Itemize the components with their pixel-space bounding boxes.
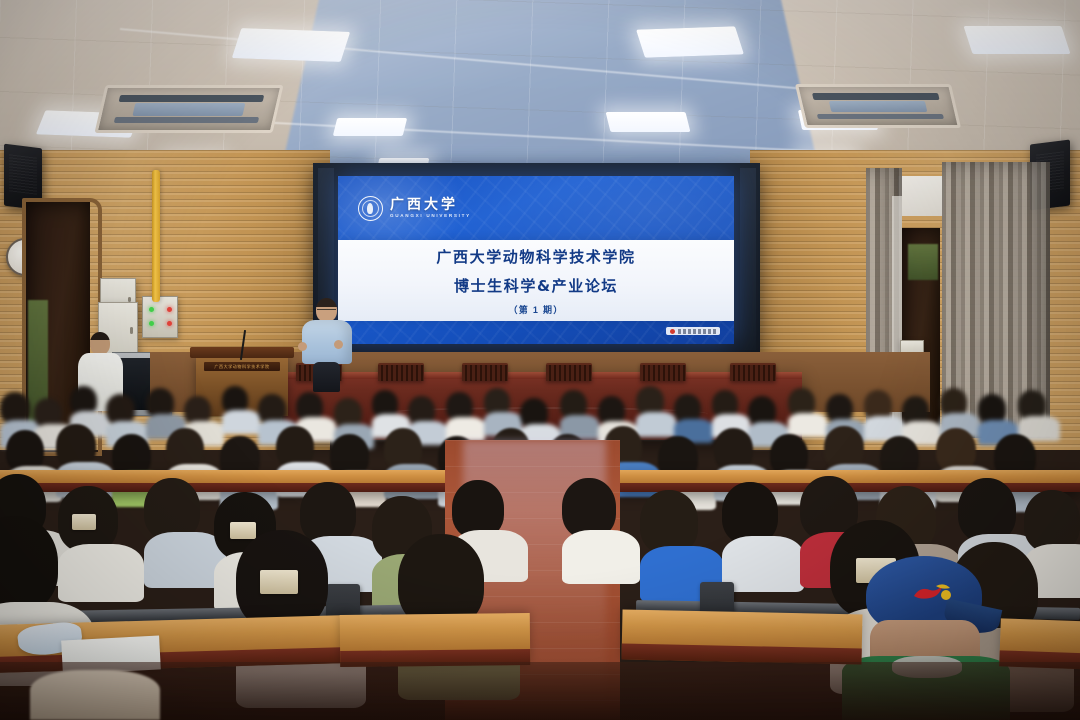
hair-clip — [72, 514, 96, 530]
projection-screen: 广西大学 GUANGXI UNIVERSITY 广西大学动物科学技术学院 博士生… — [338, 176, 734, 344]
presenter-hand — [334, 340, 343, 349]
presenter-shirt — [302, 320, 352, 364]
ceiling-panel-light — [636, 26, 744, 57]
logo-english-name: GUANGXI UNIVERSITY — [390, 214, 471, 219]
ceiling-panel-light — [963, 26, 1070, 54]
green-led-icon — [149, 307, 154, 312]
foreground-person-shoulder — [30, 670, 160, 720]
yellow-gas-pipe — [152, 170, 160, 302]
screen-side-panel — [740, 168, 756, 350]
ticker-bars-icon — [678, 329, 716, 334]
stage-chair[interactable] — [462, 363, 508, 381]
ceiling-panel-light — [333, 118, 407, 136]
control-panel-box[interactable] — [142, 296, 178, 338]
ac-vent-center — [132, 103, 245, 116]
ceiling-ac-vent — [795, 84, 961, 128]
podium-plate-text: 广西大学动物科学技术学院 — [214, 364, 269, 370]
right-door-grille — [908, 244, 938, 280]
screen-status-ticker — [666, 327, 720, 335]
red-bull-logo-icon — [910, 580, 954, 604]
red-led-icon — [167, 307, 172, 312]
slide-subtitle: （第 1 期） — [508, 303, 563, 316]
stage-chair[interactable] — [378, 363, 424, 381]
hair-clip — [230, 522, 256, 539]
glasses-icon — [317, 309, 336, 314]
ceiling-panel-light — [232, 28, 350, 62]
desk-row — [0, 470, 450, 492]
podium-name-plate: 广西大学动物科学技术学院 — [204, 362, 280, 371]
slide-title-line1: 广西大学动物科学技术学院 — [436, 246, 635, 267]
slide-title-band: 广西大学动物科学技术学院 博士生科学&产业论坛 （第 1 期） — [338, 240, 734, 321]
logo-chinese-name: 广西大学 — [390, 198, 471, 212]
university-logo: 广西大学 GUANGXI UNIVERSITY — [358, 196, 471, 221]
ac-vent-center — [829, 101, 928, 112]
ceiling-panel-light — [606, 112, 691, 132]
presenter — [300, 298, 354, 390]
slide-title-line2: 博士生科学&产业论坛 — [454, 275, 618, 296]
foreground-desk — [622, 609, 863, 664]
hair-clip — [260, 570, 298, 594]
ceiling-ac-vent — [94, 85, 283, 133]
lecture-hall-photo: 广西大学 GUANGXI UNIVERSITY 广西大学动物科学技术学院 博士生… — [0, 0, 1080, 720]
university-emblem-icon — [358, 196, 383, 221]
presenter-trousers — [313, 362, 340, 392]
red-led-icon — [167, 321, 172, 326]
foreground-shadow-band — [0, 662, 1080, 720]
presenter-hand — [298, 342, 307, 351]
stage-chair[interactable] — [546, 363, 592, 381]
stage-chair[interactable] — [640, 363, 686, 381]
foreground-desk — [340, 613, 531, 667]
attendant-head — [90, 332, 110, 355]
stage-chair[interactable] — [730, 363, 776, 381]
green-led-icon — [149, 321, 154, 326]
right-window-pane — [898, 176, 944, 216]
record-dot-icon — [670, 329, 675, 334]
